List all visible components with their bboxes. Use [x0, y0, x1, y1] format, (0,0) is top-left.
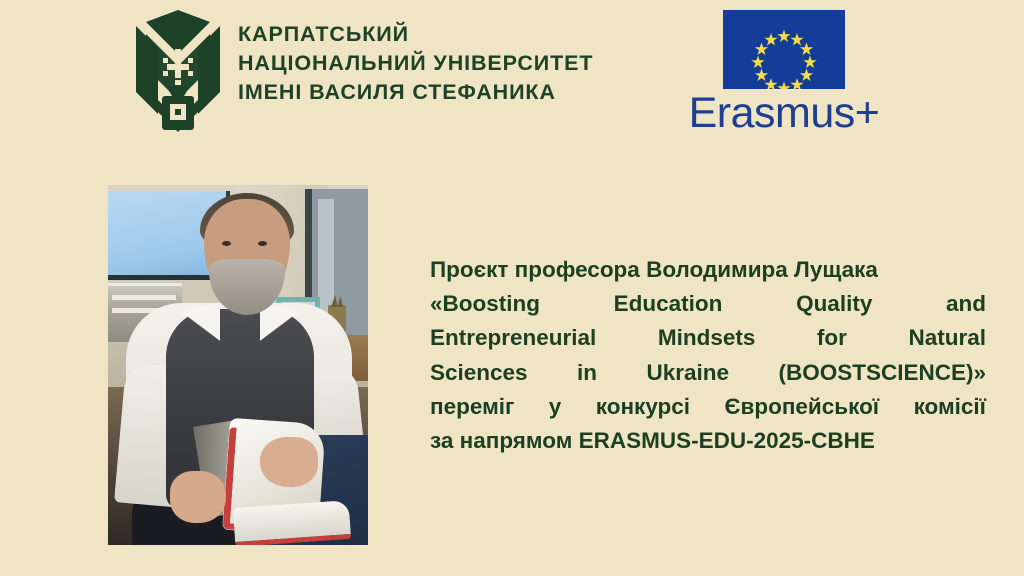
university-name-line-1: КАРПАТСЬКИЙ [238, 22, 593, 46]
photo-eye-left [222, 241, 231, 246]
photo-book-lower-half [233, 500, 351, 545]
announcement-text: Проєкт професора Володимира Лущака «Boos… [430, 253, 986, 458]
carpathian-university-emblem-icon [132, 8, 224, 136]
presentation-slide: КАРПАТСЬКИЙ НАЦІОНАЛЬНИЙ УНІВЕРСИТЕТ ІМЕ… [0, 0, 1024, 576]
announcement-line-1: Проєкт професора Володимира Лущака [430, 253, 986, 287]
portrait-photo-scene [108, 185, 368, 545]
university-name-block: КАРПАТСЬКИЙ НАЦІОНАЛЬНИЙ УНІВЕРСИТЕТ ІМЕ… [238, 8, 593, 104]
portrait-photo [108, 185, 368, 545]
announcement-line-6: за напрямом ERASMUS-EDU-2025-CBHE [430, 424, 986, 458]
announcement-line-5: переміг у конкурсі Європейської комісії [430, 390, 986, 424]
photo-eye-right [258, 241, 267, 246]
erasmus-plus-wordmark: Erasmus+ [689, 92, 880, 135]
european-union-flag-icon [723, 10, 845, 89]
photo-right-hand [260, 437, 318, 487]
photo-left-hand [170, 471, 226, 523]
university-name-line-3: ІМЕНІ ВАСИЛЯ СТЕФАНИКА [238, 80, 593, 104]
announcement-line-3: Entrepreneurial Mindsets for Natural [430, 321, 986, 355]
university-logo: КАРПАТСЬКИЙ НАЦІОНАЛЬНИЙ УНІВЕРСИТЕТ ІМЕ… [132, 8, 593, 136]
erasmus-plus-logo: Erasmus+ [686, 10, 882, 135]
university-name-line-2: НАЦІОНАЛЬНИЙ УНІВЕРСИТЕТ [238, 51, 593, 75]
announcement-line-4: Sciences in Ukraine (BOOSTSCIENCE)» [430, 356, 986, 390]
announcement-line-2: «Boosting Education Quality and [430, 287, 986, 321]
